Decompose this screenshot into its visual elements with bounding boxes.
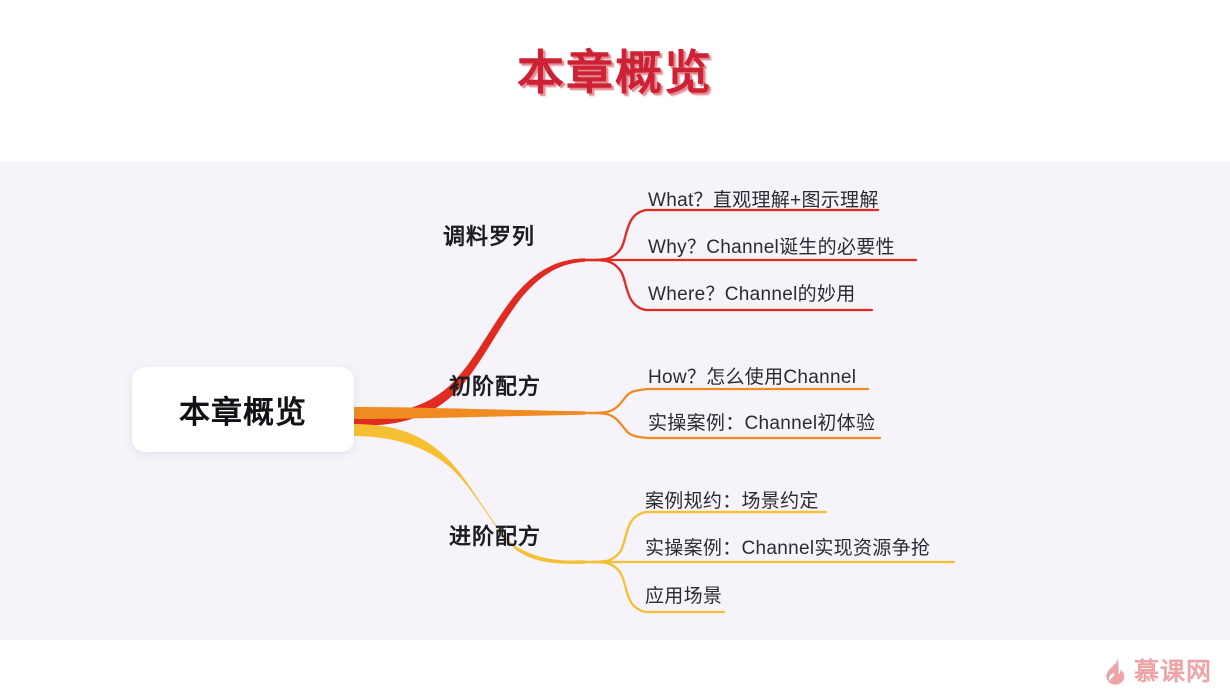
leaf-label-how[interactable]: How？怎么使用Channel <box>648 362 856 389</box>
leaf-label-yingyong-changjing[interactable]: 应用场景 <box>645 581 722 608</box>
leaf-label-where[interactable]: Where？Channel的妙用 <box>648 279 856 306</box>
leaf-label-shicao-zhengqiang[interactable]: 实操案例：Channel实现资源争抢 <box>645 533 930 560</box>
mindmap-panel: 本章概览 调料罗列 初阶配方 进阶配方 What？直观理解+图示理解 Why？C… <box>0 162 1230 640</box>
watermark: 慕课网 <box>1104 652 1212 688</box>
mindmap-root-label: 本章概览 <box>179 387 307 432</box>
flame-icon <box>1104 655 1128 685</box>
mindmap-root-node[interactable]: 本章概览 <box>132 367 354 452</box>
leaf-label-anli-guiyue[interactable]: 案例规约：场景约定 <box>645 486 819 513</box>
leaf-label-shicao-chutiyan[interactable]: 实操案例：Channel初体验 <box>648 408 875 435</box>
watermark-text: 慕课网 <box>1134 652 1212 688</box>
branch-label-chujie[interactable]: 初阶配方 <box>449 369 541 401</box>
leaf-label-what[interactable]: What？直观理解+图示理解 <box>648 185 879 212</box>
page-title: 本章概览 <box>0 44 1230 102</box>
leaf-label-why[interactable]: Why？Channel诞生的必要性 <box>648 232 895 259</box>
branch-label-diaoliao[interactable]: 调料罗列 <box>443 219 535 251</box>
branch-label-jinjie[interactable]: 进阶配方 <box>449 519 541 551</box>
branch-trunk-1 <box>354 407 585 419</box>
